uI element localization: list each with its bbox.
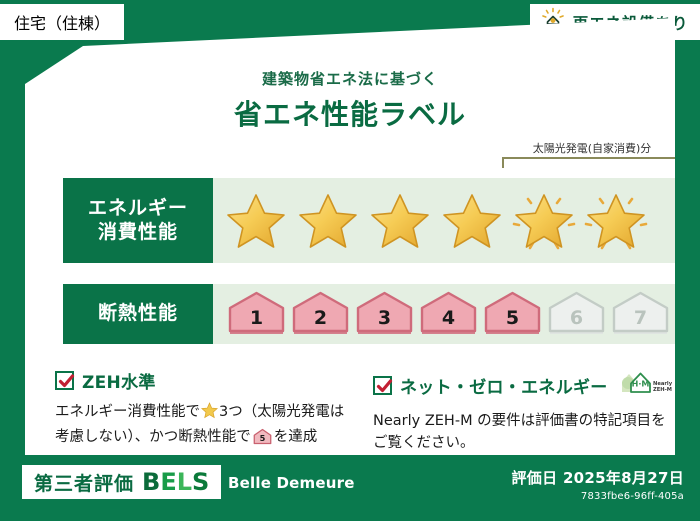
insulation-level-inactive: 7	[611, 291, 670, 337]
insulation-label-text: 断熱性能	[98, 302, 178, 326]
insulation-level-active: 4	[419, 291, 478, 337]
solar-annotation: 太陽光発電(自家消費)分	[502, 140, 682, 168]
zeh-heading: ZEH水準	[55, 368, 355, 393]
insulation-performance-label: 断熱性能	[63, 284, 213, 344]
zeh-text-part3: を達成	[274, 429, 318, 445]
svg-text:ZEH-M: ZEH-M	[653, 387, 672, 393]
evaluation-date-label: 評価日	[512, 469, 558, 487]
solar-annotation-label: 太陽光発電(自家消費)分	[502, 140, 682, 156]
net-zero-title: ネット・ゼロ・エネルギー	[400, 373, 608, 398]
inline-star-icon	[201, 407, 218, 423]
insulation-performance-body: 1234567	[213, 284, 688, 344]
net-zero-description: Nearly ZEH-M の要件は評価書の特記項目をご覧ください。	[373, 410, 673, 455]
inline-insulation-badge: 5	[253, 433, 272, 449]
svg-text:H·M: H·M	[631, 380, 649, 389]
footer-band: 第三者評価 BELS Belle Demeure 評価日 2025年8月27日 …	[0, 455, 700, 521]
zeh-title: ZEH水準	[82, 368, 156, 393]
third-party-label: 第三者評価	[34, 469, 134, 496]
energy-star-icon	[295, 189, 361, 253]
zeh-text-part1: エネルギー消費性能で	[55, 404, 200, 420]
insulation-level-inactive: 6	[547, 291, 606, 337]
info-columns: ZEH水準 エネルギー消費性能で3つ（太陽光発電は考慮しない）、かつ断熱性能で5…	[55, 368, 675, 455]
insulation-level-number: 4	[419, 307, 478, 329]
evaluation-date-value: 2025年8月27日	[563, 469, 684, 487]
zeh-description: エネルギー消費性能で3つ（太陽光発電は考慮しない）、かつ断熱性能で5を達成	[55, 401, 355, 453]
energy-star-icon	[367, 189, 433, 253]
evaluation-date: 評価日 2025年8月27日	[512, 467, 685, 488]
insulation-level-number: 3	[355, 307, 414, 329]
building-type-label: 住宅（住棟）	[14, 10, 110, 34]
insulation-level-number: 6	[547, 307, 606, 329]
nearly-zehm-logo-icon: H·M Nearly ZEH-M	[618, 368, 672, 402]
insulation-level-active: 5	[483, 291, 542, 337]
insulation-level-number: 2	[291, 307, 350, 329]
energy-label-line2: 消費性能	[98, 221, 178, 245]
energy-performance-label: エネルギー 消費性能	[63, 178, 213, 263]
zeh-info-column: ZEH水準 エネルギー消費性能で3つ（太陽光発電は考慮しない）、かつ断熱性能で5…	[55, 368, 355, 455]
label-subtitle: 建築物省エネ法に基づく	[25, 68, 675, 89]
insulation-level-number: 5	[483, 307, 542, 329]
energy-star-icon	[439, 189, 505, 253]
building-type-tab: 住宅（住棟）	[0, 4, 124, 40]
energy-star-icon	[223, 189, 289, 253]
evaluation-info: 評価日 2025年8月27日 7833fbe6-96ff-405a	[512, 467, 685, 502]
solar-bracket	[502, 157, 682, 168]
zeh-check-icon	[55, 371, 74, 390]
bels-evaluation-box: 第三者評価 BELS	[22, 465, 221, 499]
title-block: 建築物省エネ法に基づく 省エネ性能ラベル	[25, 68, 675, 133]
insulation-level-active: 1	[227, 291, 286, 337]
brand-name: Belle Demeure	[228, 474, 355, 492]
insulation-level-active: 2	[291, 291, 350, 337]
insulation-level-group: 1234567	[213, 291, 670, 337]
evaluation-id: 7833fbe6-96ff-405a	[512, 491, 685, 502]
insulation-performance-row: 断熱性能 1234567	[63, 284, 688, 344]
energy-label-line1: エネルギー	[88, 197, 188, 221]
net-zero-info-column: ネット・ゼロ・エネルギー H·M Nearly ZEH-M Nearly ZEH…	[373, 368, 673, 455]
svg-text:5: 5	[259, 433, 265, 443]
label-main-title: 省エネ性能ラベル	[25, 93, 675, 133]
net-zero-check-icon	[373, 376, 392, 395]
insulation-level-active: 3	[355, 291, 414, 337]
solar-star-icon	[583, 189, 649, 253]
insulation-level-number: 7	[611, 307, 670, 329]
energy-performance-body: 太陽光発電(自家消費)分	[213, 178, 688, 263]
insulation-level-number: 1	[227, 307, 286, 329]
star-rating-group	[213, 189, 649, 253]
energy-performance-row: エネルギー 消費性能 太陽光発電(自家消費)分	[63, 178, 688, 263]
net-zero-heading: ネット・ゼロ・エネルギー H·M Nearly ZEH-M	[373, 368, 673, 402]
label-card: 建築物省エネ法に基づく 省エネ性能ラベル エネルギー 消費性能 太陽光発電(自家…	[25, 18, 675, 455]
bels-logo: BELS	[142, 468, 209, 496]
solar-star-icon	[511, 189, 577, 253]
